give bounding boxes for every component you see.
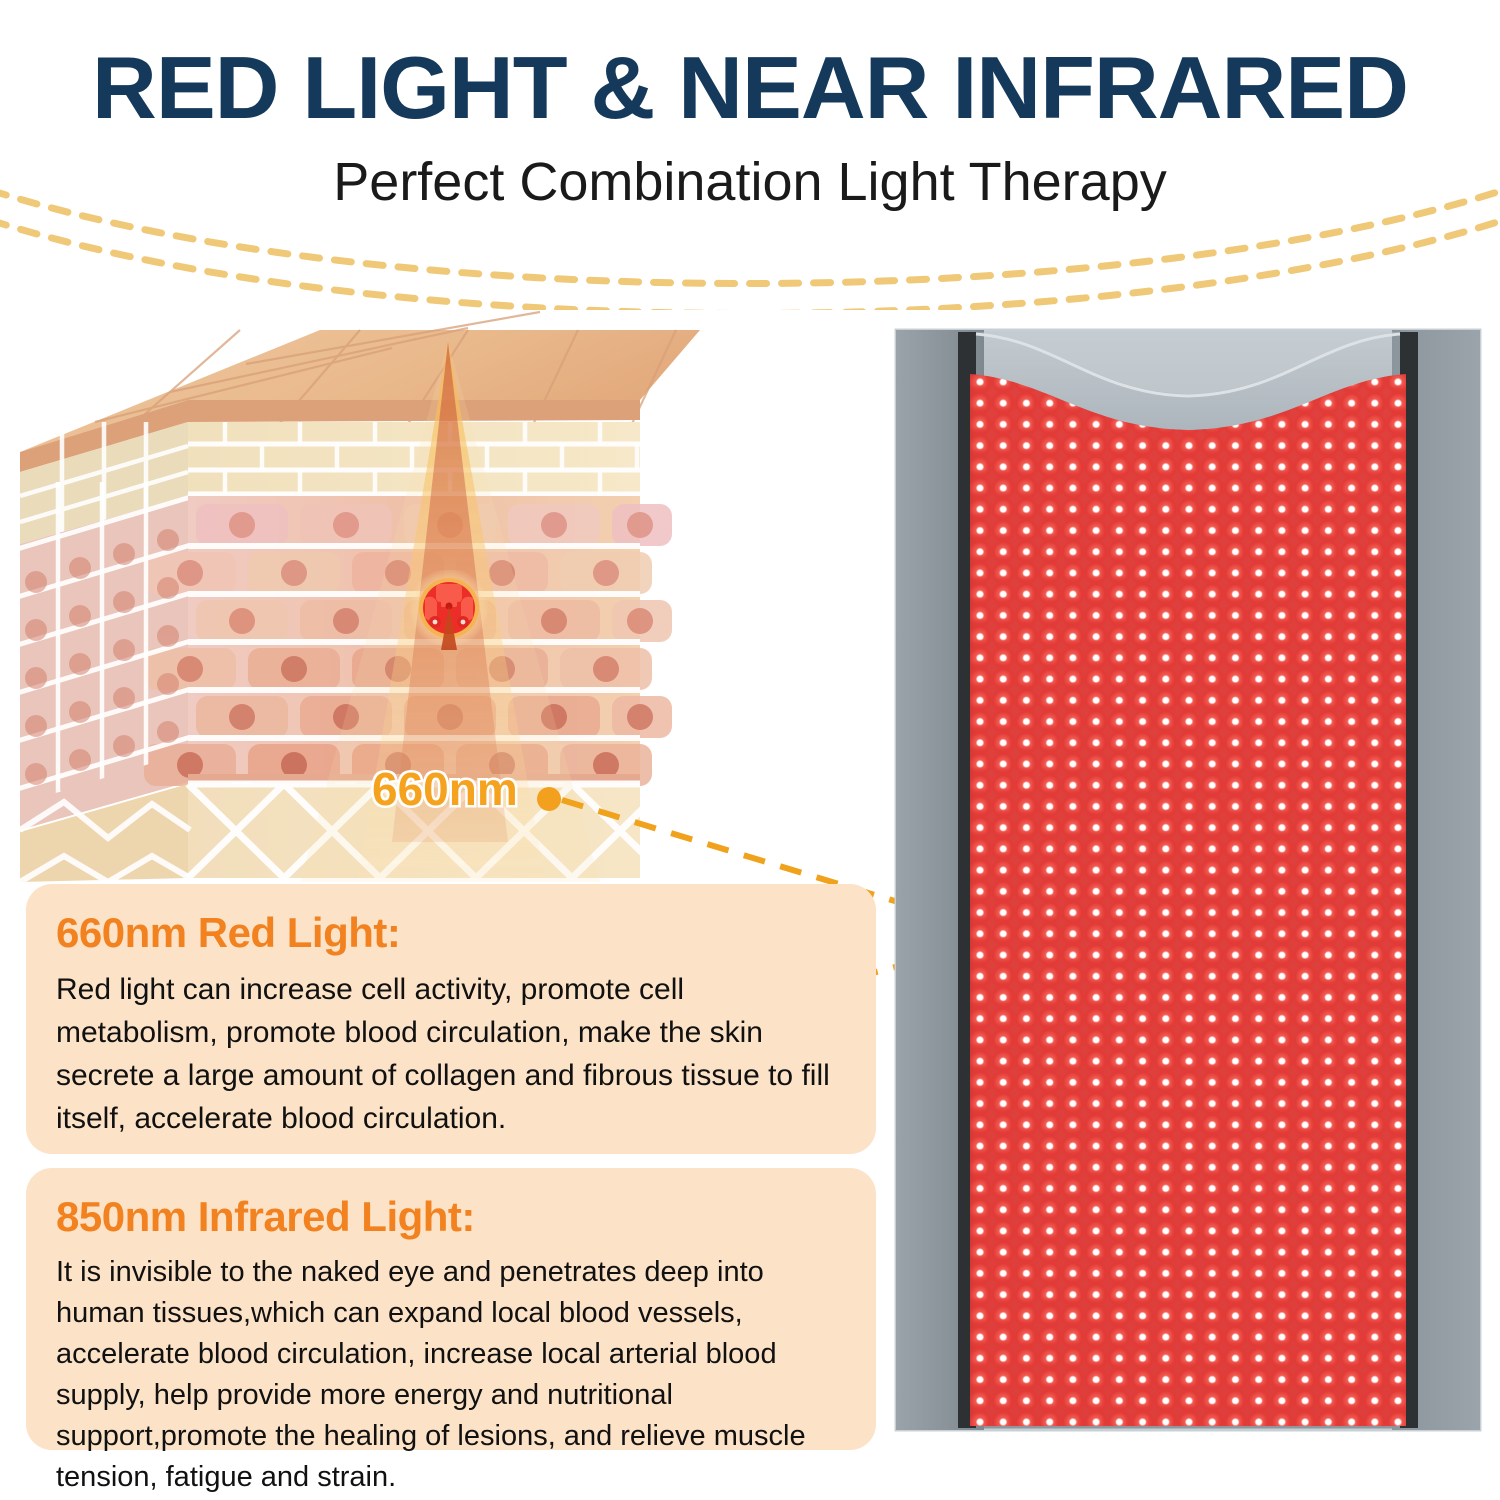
label-660nm: 660nm — [372, 766, 518, 812]
info-card-850nm: 850nm Infrared Light: It is invisible to… — [26, 1168, 876, 1450]
red-light-therapy-panel — [888, 318, 1488, 1438]
card-660nm-body: Red light can increase cell activity, pr… — [56, 968, 846, 1140]
header: RED LIGHT & NEAR INFRARED Perfect Combin… — [0, 0, 1500, 300]
page-title: RED LIGHT & NEAR INFRARED — [0, 42, 1500, 134]
card-660nm-heading: 660nm Red Light: — [56, 906, 846, 960]
led-grid — [961, 363, 1417, 1438]
skin-cross-section-diagram: 660nm 850nm — [0, 282, 700, 882]
led-emitter-icon — [408, 570, 490, 652]
label-660nm-dot — [537, 787, 561, 811]
info-card-660nm: 660nm Red Light: Red light can increase … — [26, 884, 876, 1154]
card-850nm-body: It is invisible to the naked eye and pen… — [56, 1252, 846, 1498]
card-850nm-heading: 850nm Infrared Light: — [56, 1190, 846, 1244]
infographic-root: RED LIGHT & NEAR INFRARED Perfect Combin… — [0, 0, 1500, 1500]
